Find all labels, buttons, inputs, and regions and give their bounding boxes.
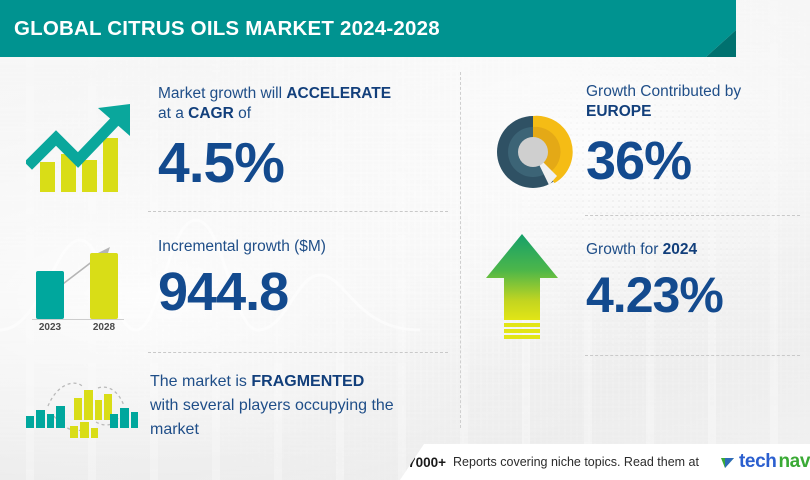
growth-year-label-year: 2024 <box>663 241 697 258</box>
cagr-label-part1: Market growth will <box>158 85 286 102</box>
europe-value: 36% <box>586 130 801 192</box>
up-arrow-icon <box>485 232 559 340</box>
building-cluster-right <box>110 408 138 428</box>
bar-comparison-icon: 2023 2028 <box>18 225 138 337</box>
vertical-divider <box>460 72 461 428</box>
building-cluster-top <box>74 390 112 420</box>
divider-left-1 <box>148 211 448 212</box>
building-cluster-bottom <box>70 422 98 438</box>
technavio-logo[interactable]: technav <box>720 451 810 473</box>
logo-word-tech: tech <box>739 451 776 473</box>
logo-word-nav: nav <box>778 451 810 473</box>
fragmentation-part4: market <box>150 421 199 438</box>
europe-panel: Growth Contributed by EUROPE 36% <box>586 82 801 192</box>
growth-year-panel: Growth for 2024 4.23% <box>586 240 801 324</box>
report-count: 17000+ <box>401 455 446 470</box>
europe-label: Growth Contributed by EUROPE <box>586 82 801 122</box>
cagr-value: 4.5% <box>158 130 448 196</box>
incremental-growth-label: Incremental growth ($M) <box>158 237 448 257</box>
technavio-mark-icon <box>720 454 737 471</box>
fragmentation-part3: with several players occupying the <box>150 397 394 414</box>
footer-text: Reports covering niche topics. Read them… <box>453 455 699 469</box>
cagr-label-part5: of <box>234 105 251 122</box>
cagr-label-accelerate: ACCELERATE <box>286 85 391 102</box>
growth-year-label-part1: Growth for <box>586 241 663 258</box>
incremental-growth-value: 944.8 <box>158 261 448 323</box>
europe-label-region: EUROPE <box>586 103 651 120</box>
divider-left-2 <box>148 352 448 353</box>
divider-right-2 <box>585 355 800 356</box>
growth-year-value: 4.23% <box>586 266 801 324</box>
fragmented-market-icon <box>18 372 142 438</box>
infographic-canvas: GLOBAL CITRUS OILS MARKET 2024-2028 Mark… <box>0 0 810 480</box>
bar-label-2023: 2023 <box>36 322 64 333</box>
fragmentation-panel: The market is FRAGMENTED with several pl… <box>150 370 450 442</box>
cagr-label-cagr: CAGR <box>188 105 234 122</box>
fragmentation-keyword: FRAGMENTED <box>251 373 364 390</box>
fragmentation-label: The market is FRAGMENTED with several pl… <box>150 370 450 442</box>
growth-year-label: Growth for 2024 <box>586 240 801 260</box>
cagr-label-part3: at a <box>158 105 188 122</box>
cagr-label: Market growth will ACCELERATE at a CAGR … <box>158 84 448 124</box>
incremental-growth-panel: Incremental growth ($M) 944.8 <box>158 237 448 323</box>
building-cluster-left <box>26 406 65 428</box>
footer-bar: 17000+ Reports covering niche topics. Re… <box>0 444 810 480</box>
bar-comparison-graphic <box>18 225 138 337</box>
bar-label-2028: 2028 <box>90 322 118 333</box>
header-banner: GLOBAL CITRUS OILS MARKET 2024-2028 <box>0 0 736 57</box>
page-title: GLOBAL CITRUS OILS MARKET 2024-2028 <box>0 17 440 41</box>
divider-right-1 <box>585 215 800 216</box>
growth-chart-icon <box>26 96 146 200</box>
donut-chart-icon <box>487 106 579 198</box>
cagr-panel: Market growth will ACCELERATE at a CAGR … <box>158 84 448 196</box>
fragmentation-part1: The market is <box>150 373 251 390</box>
europe-label-part1: Growth Contributed by <box>586 83 741 100</box>
footer-content: 17000+ Reports covering niche topics. Re… <box>401 451 810 473</box>
